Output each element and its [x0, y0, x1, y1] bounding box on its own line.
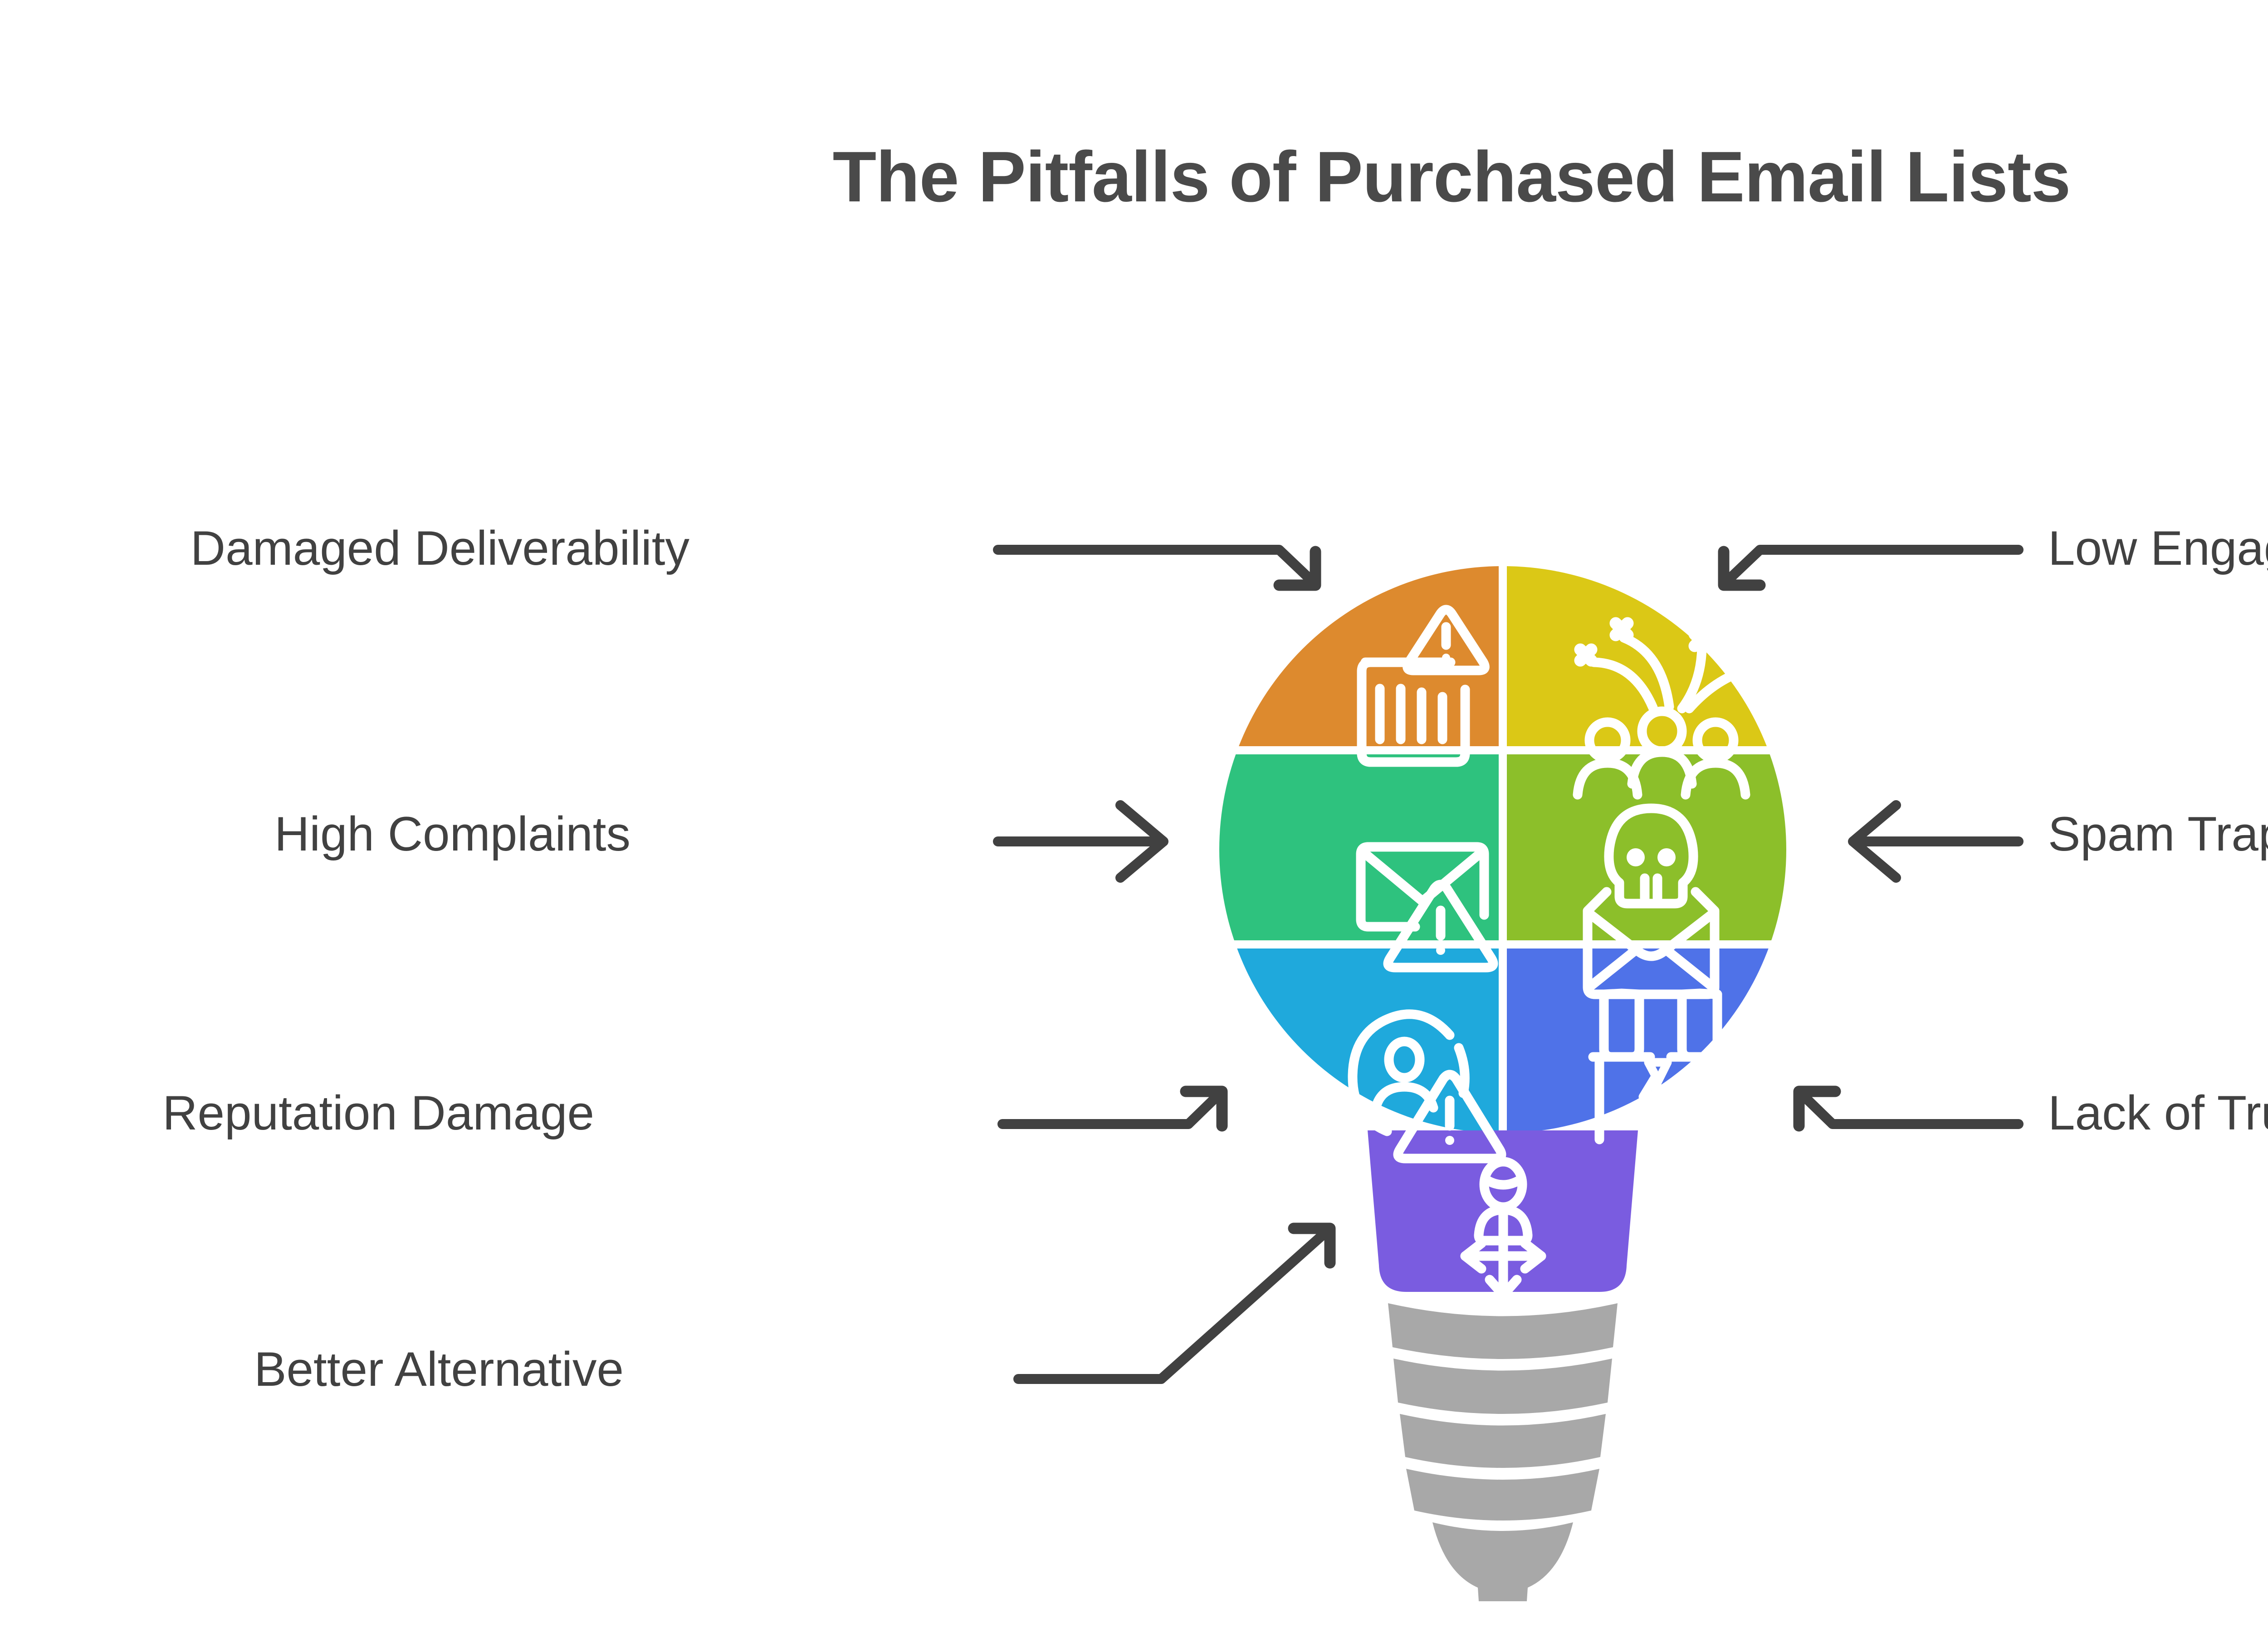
label-high-complaints: High Complaints	[274, 810, 631, 858]
label-low-engagement: Low Engagement	[2048, 524, 2268, 572]
label-better-alternative: Better Alternative	[254, 1345, 624, 1393]
connector-spam-traps	[1853, 805, 2019, 878]
connector-reputation-damage	[1002, 1091, 1222, 1126]
infographic-canvas: The Pitfalls of Purchased Email Lists	[0, 0, 2268, 1633]
connector-high-complaints	[998, 805, 1163, 878]
connector-lack-of-trust	[1799, 1091, 2019, 1126]
connector-damaged-deliverability	[998, 550, 1315, 585]
label-lack-of-trust: Lack of Trust	[2048, 1089, 2268, 1137]
segment-spam-traps[interactable]	[1507, 754, 1797, 940]
connector-low-engagement	[1724, 550, 2019, 585]
segment-damaged-deliverability[interactable]	[1211, 558, 1499, 746]
label-spam-traps: Spam Traps	[2048, 810, 2268, 858]
label-damaged-deliverability: Damaged Deliverability	[191, 524, 689, 572]
label-reputation-damage: Reputation Damage	[162, 1089, 594, 1137]
bulb-screw-base	[1388, 1303, 1618, 1601]
connector-better-alternative	[1018, 1228, 1330, 1379]
